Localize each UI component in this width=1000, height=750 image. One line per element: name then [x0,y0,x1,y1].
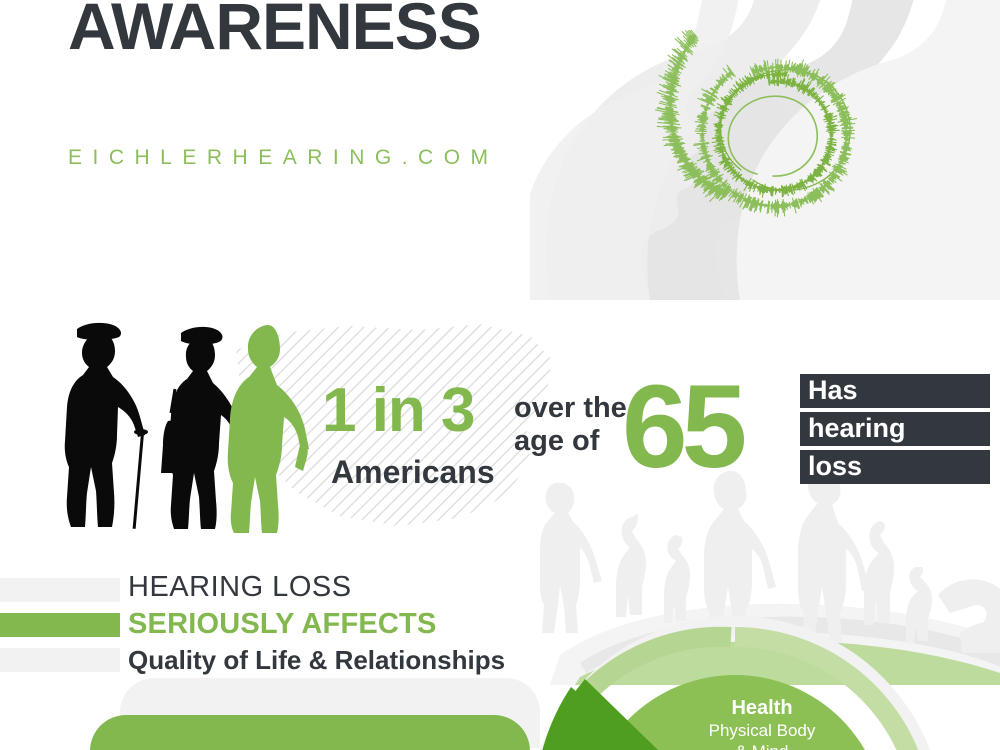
accent-bar-top [0,578,120,602]
affects-line-3: Quality of Life & Relationships [128,645,505,676]
stat-age-of-label: age of [514,425,599,458]
elderly-people-silhouettes-icon [55,315,320,535]
page-title: AWARENESS [68,0,481,61]
affects-accent-bars [0,578,120,683]
affects-line-2: SERIOUSLY AFFECTS [128,607,505,642]
infographic-canvas: AWARENESS EICHLERHEARING.COM [0,0,1000,750]
hearing-loss-callout: Has hearing loss [800,374,990,488]
statistic-row: 1 in 3 Americans over the age of 65 Has … [322,378,982,493]
stat-one-in-three: 1 in 3 [322,380,475,442]
site-url-label: EICHLERHEARING.COM [68,146,499,170]
stat-americans-label: Americans [331,456,495,488]
affects-text-block: HEARING LOSS SERIOUSLY AFFECTS Quality o… [128,570,505,676]
stat-over-the-label: over the [514,392,627,425]
health-wheel-chart [525,615,945,750]
accent-bar-middle [0,613,120,637]
green-panel [90,715,530,750]
sound-wave-spiral-icon [655,30,895,245]
affects-line-1: HEARING LOSS [128,570,505,605]
callout-line-2: hearing [800,412,990,446]
accent-bar-bottom [0,648,120,672]
callout-line-3: loss [800,450,990,484]
stat-age-number: 65 [622,368,741,486]
callout-line-1: Has [800,374,990,408]
